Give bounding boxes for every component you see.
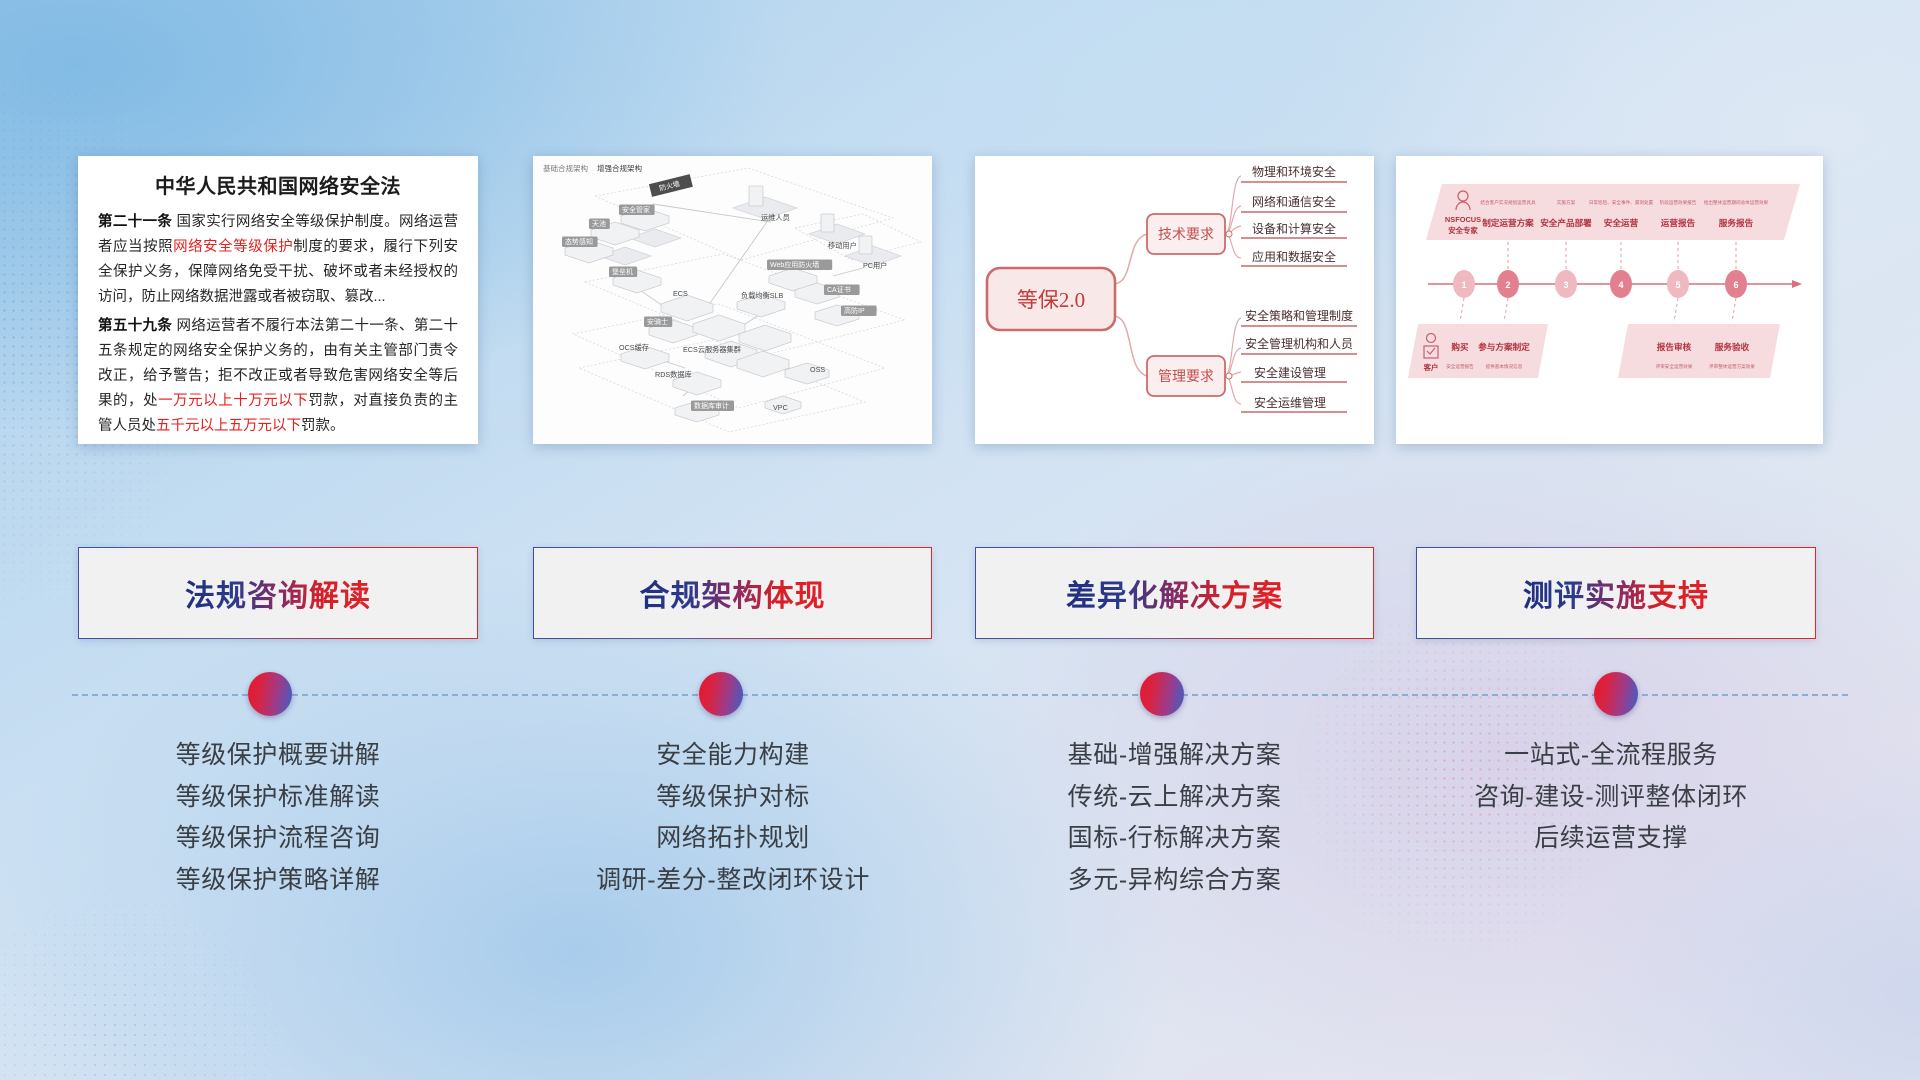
process-step-bottom-sub: 评审安全运营效果 [1656, 363, 1693, 370]
mindmap-leaf: 应用和数据安全 [1252, 249, 1336, 264]
mindmap-branch-connectors [1225, 176, 1241, 404]
list-item: 后续运营支撑 [1396, 818, 1826, 860]
process-step-top-sub: 实施方案 [1557, 199, 1576, 206]
architecture-node-label: 移动用户 [828, 241, 857, 250]
process-diagram: NSFOCUS 安全专家 客户 购买安全运营报告1制定运营方案结合客户实况规划运… [1396, 156, 1823, 444]
headline-label: 法规咨询解读 [185, 571, 371, 615]
list-item: 等级保护概要讲解 [78, 735, 478, 777]
headline-box-assessment-support[interactable]: 测评实施支持 [1416, 547, 1816, 639]
mindmap-leaf: 设备和计算安全 [1252, 221, 1336, 236]
process-top-role-line2: 安全专家 [1448, 226, 1478, 235]
process-step-top-sub: 阶段运营效果报告 [1660, 199, 1697, 206]
process-axis-arrowhead [1792, 280, 1802, 288]
process-top-band [1426, 184, 1800, 240]
process-step-number: 2 [1505, 280, 1510, 290]
process-step-top-title: 服务报告 [1719, 217, 1754, 228]
process-step-bottom-title: 购买 [1451, 341, 1469, 352]
timeline-dot-2[interactable] [699, 672, 743, 716]
process-step-top-sub: 结合客户实况规划运营具具 [1480, 199, 1536, 206]
timeline [0, 672, 1920, 718]
detail-list-assessment-support: 一站式-全流程服务 咨询-建设-测评整体闭环 后续运营支撑 [1396, 735, 1826, 860]
timeline-dot-1[interactable] [248, 672, 292, 716]
law-title: 中华人民共和国网络安全法 [98, 170, 458, 199]
process-step-bottom-title: 参与方案制定 [1478, 341, 1530, 352]
card-compliance-architecture[interactable]: 基础合规架构 增强合规架构 [533, 156, 932, 444]
process-step-top-sub: 给出整体运营期间总体运营效果 [1704, 199, 1769, 206]
process-step-top-title: 安全产品部署 [1540, 217, 1592, 228]
process-step-number: 4 [1618, 280, 1623, 290]
mindmap-diagram: 等保2.0 技术要求 管理要求 物理和环境安全 网络和通信安全 设备和计算安全 … [975, 156, 1374, 444]
headline-box-differentiated-solution[interactable]: 差异化解决方案 [975, 547, 1374, 639]
architecture-node-label: 负载均衡SLB [741, 291, 784, 300]
process-step-top-title: 安全运营 [1604, 217, 1639, 228]
architecture-node-label: 数据库审计 [694, 401, 729, 410]
process-step-number: 1 [1461, 280, 1466, 290]
list-item: 网络拓扑规划 [518, 818, 948, 860]
mindmap-root-connectors [1113, 234, 1147, 376]
architecture-node-label: 态势感知 [565, 237, 593, 246]
process-dropper-bottom [1460, 298, 1464, 322]
mindmap-leaf: 网络和通信安全 [1252, 194, 1336, 209]
architecture-node-label: 安全管家 [622, 205, 650, 214]
process-step-top-title: 运营报告 [1661, 217, 1696, 228]
architecture-diagram: 基础合规架构 增强合规架构 [533, 156, 932, 444]
mindmap-leaf: 安全管理机构和人员 [1245, 336, 1353, 351]
card-cybersecurity-law[interactable]: 中华人民共和国网络安全法 第二十一条 国家实行网络安全等级保护制度。网络运营者应… [78, 156, 478, 444]
list-item: 一站式-全流程服务 [1396, 735, 1826, 777]
process-canvas: NSFOCUS 安全专家 客户 购买安全运营报告1制定运营方案结合客户实况规划运… [1396, 156, 1823, 444]
list-item: 等级保护流程咨询 [78, 818, 478, 860]
process-top-role-line1: NSFOCUS [1445, 215, 1481, 224]
timeline-dashed-line [72, 694, 1848, 696]
headline-label: 测评实施支持 [1523, 571, 1709, 615]
headline-row: 法规咨询解读 合规架构体现 差异化解决方案 测评实施支持 [0, 547, 1920, 639]
architecture-canvas: 防火墙安全管家天池态势感知堡垒机运维人员移动用户PC用户Web应用防火墙CA证书… [533, 156, 932, 444]
architecture-node-label: OCS缓存 [619, 343, 649, 352]
headline-box-regulation-consulting[interactable]: 法规咨询解读 [78, 547, 478, 639]
law-highlight-text: 一万元以上十万元以下 [158, 393, 308, 409]
list-item: 国标-行标解决方案 [975, 818, 1374, 860]
list-item: 安全能力构建 [518, 735, 948, 777]
architecture-node-label: RDS数据库 [655, 370, 692, 379]
process-step-bottom-sub: 评审整体运营方案效果 [1709, 363, 1755, 370]
list-item: 调研-差分-整改闭环设计 [518, 860, 948, 902]
headline-label: 差异化解决方案 [1066, 571, 1283, 615]
architecture-node-label: 堡垒机 [612, 267, 633, 276]
process-step-number: 5 [1675, 280, 1680, 290]
process-bottom-band-right [1618, 324, 1780, 378]
card-mindmap-dengbao[interactable]: 等保2.0 技术要求 管理要求 物理和环境安全 网络和通信安全 设备和计算安全 … [975, 156, 1374, 444]
mindmap-root-label: 等保2.0 [1017, 288, 1085, 312]
architecture-node-label: VPC [773, 403, 788, 412]
mindmap-canvas: 等保2.0 技术要求 管理要求 物理和环境安全 网络和通信安全 设备和计算安全 … [975, 156, 1374, 444]
mindmap-leaf: 安全策略和管理制度 [1245, 308, 1353, 323]
law-article-number: 第二十一条 [98, 214, 172, 230]
law-body-text: 罚款。 [301, 418, 345, 434]
detail-list-regulation-consulting: 等级保护概要讲解 等级保护标准解读 等级保护流程咨询 等级保护策略详解 [78, 735, 478, 901]
headline-label: 合规架构体现 [640, 571, 826, 615]
timeline-dot-4[interactable] [1594, 672, 1638, 716]
architecture-node-label: ECS [673, 289, 688, 298]
mindmap-branch-label-management: 管理要求 [1158, 369, 1214, 385]
mindmap-leaf: 安全运维管理 [1254, 395, 1326, 410]
process-bottom-role: 客户 [1423, 363, 1439, 372]
detail-list-differentiated-solution: 基础-增强解决方案 传统-云上解决方案 国标-行标解决方案 多元-异构综合方案 [975, 735, 1374, 901]
architecture-node-label: OSS [810, 365, 825, 374]
law-paragraph: 第二十一条 国家实行网络安全等级保护制度。网络运营者应当按照网络安全等级保护制度… [98, 210, 458, 310]
process-dropper-bottom [1732, 298, 1736, 322]
process-step-bottom-title: 服务验收 [1715, 341, 1750, 352]
process-dropper-bottom [1504, 298, 1508, 322]
process-dropper-bottom [1674, 298, 1678, 322]
process-step-top-sub: 日常巡检、安全事件、漏洞处置 [1589, 199, 1654, 206]
architecture-node-label: ECS云服务器集群 [683, 345, 741, 354]
law-highlight-text: 网络安全等级保护 [173, 239, 293, 255]
list-item: 等级保护对标 [518, 777, 948, 819]
process-step-top-title: 制定运营方案 [1482, 217, 1534, 228]
detail-list-row: 等级保护概要讲解 等级保护标准解读 等级保护流程咨询 等级保护策略详解 安全能力… [0, 735, 1920, 975]
headline-box-compliance-architecture[interactable]: 合规架构体现 [533, 547, 932, 639]
architecture-node-label: 运维人员 [761, 213, 790, 222]
law-body: 中华人民共和国网络安全法 第二十一条 国家实行网络安全等级保护制度。网络运营者应… [78, 156, 478, 444]
architecture-node-label: CA证书 [827, 285, 851, 294]
list-item: 等级保护策略详解 [78, 860, 478, 902]
architecture-node-label: 高防IP [844, 306, 865, 315]
process-step-bottom-sub: 提供基本情况信息 [1486, 363, 1523, 370]
process-step-bottom-title: 报告审核 [1657, 341, 1692, 352]
law-highlight-text: 五千元以上五万元以下 [156, 418, 301, 434]
architecture-node-label: 天池 [592, 219, 606, 228]
list-item: 等级保护标准解读 [78, 777, 478, 819]
process-step-number: 6 [1733, 280, 1738, 290]
mindmap-branch-label-technical: 技术要求 [1158, 227, 1214, 243]
architecture-node-label: PC用户 [863, 261, 887, 270]
illustration-card-row: 中华人民共和国网络安全法 第二十一条 国家实行网络安全等级保护制度。网络运营者应… [0, 156, 1920, 444]
mindmap-leaf: 安全建设管理 [1254, 365, 1326, 380]
law-article-number: 第五十九条 [98, 318, 172, 334]
architecture-node-label: 安骑士 [647, 317, 668, 326]
timeline-dot-3[interactable] [1140, 672, 1184, 716]
list-item: 咨询-建设-测评整体闭环 [1396, 777, 1826, 819]
mindmap-collapse-handle-technical[interactable] [1226, 231, 1232, 237]
process-step-number: 3 [1563, 280, 1568, 290]
list-item: 基础-增强解决方案 [975, 735, 1374, 777]
list-item: 传统-云上解决方案 [975, 777, 1374, 819]
law-paragraph: 第五十九条 网络运营者不履行本法第二十一条、第二十五条规定的网络安全保护义务的，… [98, 314, 458, 439]
mindmap-collapse-handle-management[interactable] [1226, 373, 1232, 379]
mindmap-leaf: 物理和环境安全 [1252, 164, 1336, 179]
card-service-process[interactable]: NSFOCUS 安全专家 客户 购买安全运营报告1制定运营方案结合客户实况规划运… [1396, 156, 1823, 444]
process-step-bottom-sub: 安全运营报告 [1446, 363, 1474, 370]
list-item: 多元-异构综合方案 [975, 860, 1374, 902]
detail-list-compliance-architecture: 安全能力构建 等级保护对标 网络拓扑规划 调研-差分-整改闭环设计 [518, 735, 948, 901]
architecture-node-label: Web应用防火墙 [770, 260, 819, 269]
